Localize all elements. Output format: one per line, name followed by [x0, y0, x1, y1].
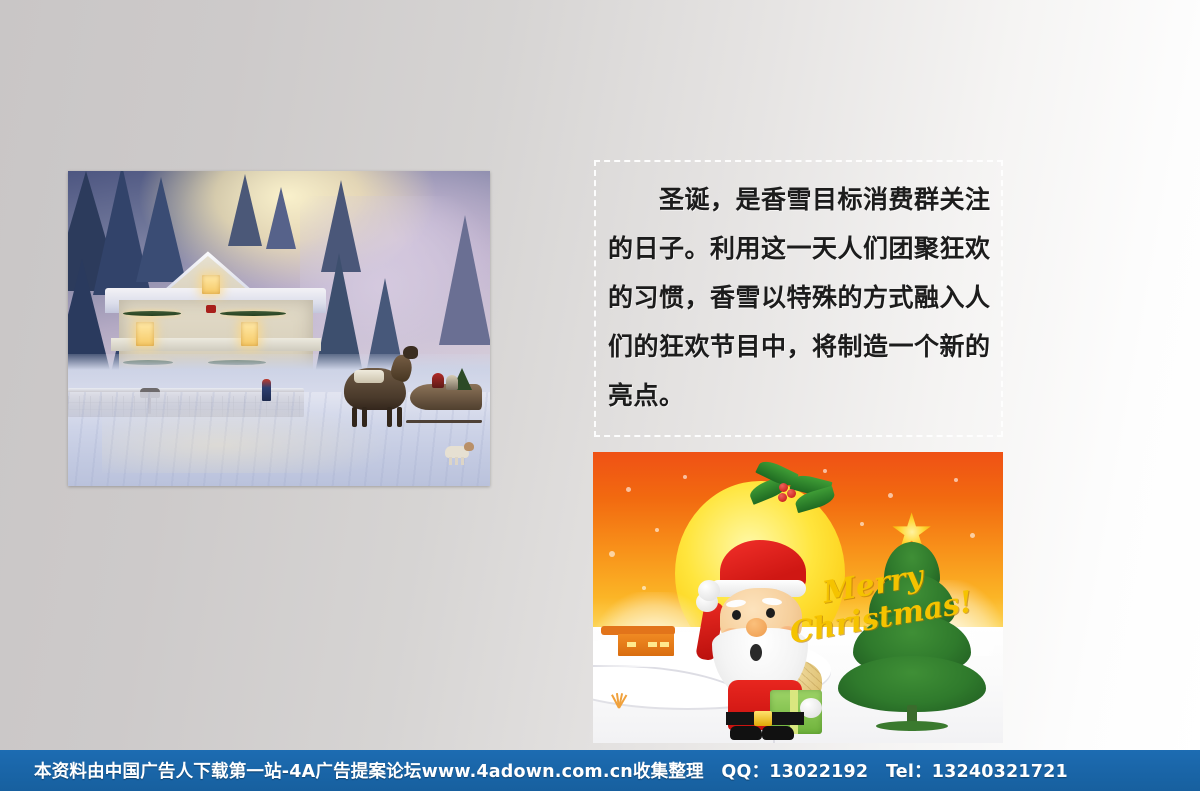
footer-banner: 本资料由中国广告人下载第一站-4A广告提案论坛www.4adown.com.cn…: [0, 750, 1200, 791]
holly-berry: [778, 493, 787, 502]
christmas-tree: [837, 516, 987, 731]
snow-dot: [954, 478, 958, 482]
snow-dot: [888, 493, 893, 498]
snow-dot: [683, 475, 687, 479]
upper-window-left: [136, 322, 153, 346]
holly-decoration: [749, 467, 835, 513]
horse-leg: [352, 407, 357, 427]
conifer-tree: [228, 174, 262, 246]
horse-blanket: [354, 370, 384, 383]
footer-text: 本资料由中国广告人下载第一站-4A广告提案论坛www.4adown.com.cn…: [34, 758, 1068, 783]
santa-christmas-card: Merry Christmas!: [593, 452, 1003, 743]
santa-hat-pompom: [698, 580, 720, 601]
santa-boot: [730, 726, 762, 740]
sleigh: [410, 384, 482, 410]
santa-claus-figure: [704, 540, 850, 740]
dog: [445, 446, 469, 458]
holly-berry: [787, 489, 796, 498]
holly-berry: [779, 483, 788, 492]
santa-belt-buckle: [754, 711, 772, 726]
horse-head: [403, 346, 418, 359]
santa-eye: [732, 610, 741, 620]
attic-window: [202, 275, 219, 294]
horse-leg: [387, 407, 392, 427]
sleigh-rider: [432, 373, 444, 388]
horse: [344, 368, 406, 410]
small-house-window: [627, 642, 636, 647]
horse-leg: [362, 407, 367, 427]
small-house: [618, 634, 674, 656]
dry-grass: [609, 692, 629, 708]
sleigh-rider: [446, 375, 458, 390]
small-house-window: [660, 642, 669, 647]
body-paragraph: 圣诞，是香雪目标消费群关注的日子。利用这一天人们团聚狂欢的习惯，香雪以特殊的方式…: [608, 175, 1006, 420]
snow-dot: [626, 487, 631, 492]
tree-layer: [838, 656, 986, 712]
tree-base: [876, 721, 948, 731]
small-house-window: [648, 642, 657, 647]
upper-window-right: [241, 322, 258, 346]
winter-cottage-painting: [68, 171, 490, 486]
horse-leg: [397, 407, 402, 427]
santa-boot: [762, 726, 794, 740]
red-bow: [206, 305, 216, 313]
snow-dot: [655, 528, 659, 532]
child-figure: [262, 379, 271, 401]
snow-dot: [609, 551, 615, 557]
santa-mouth: [750, 644, 762, 661]
snow-dot: [642, 586, 646, 590]
conifer-tree: [266, 187, 296, 249]
santa-nose: [746, 618, 767, 637]
conifer-tree: [439, 215, 490, 345]
sleigh-runner: [405, 420, 481, 423]
santa-eye: [766, 608, 775, 618]
